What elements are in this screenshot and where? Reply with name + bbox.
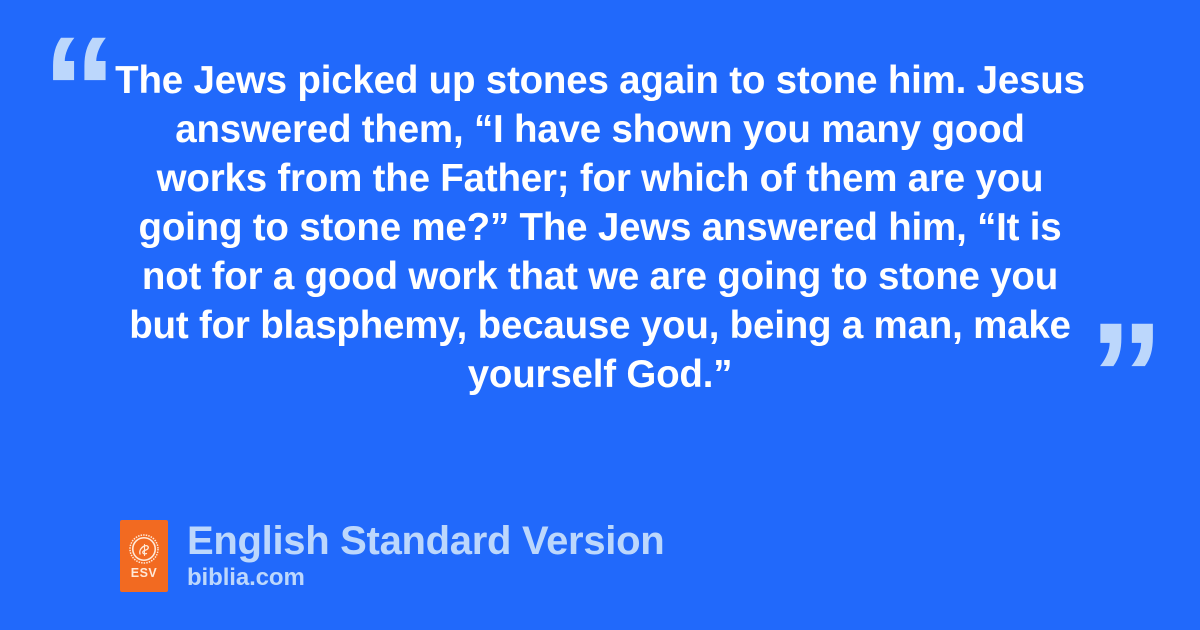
site-url-label[interactable]: biblia.com xyxy=(187,564,664,592)
closing-quote-icon: ” xyxy=(1089,300,1162,450)
quote-block: The Jews picked up stones again to stone… xyxy=(96,56,1104,399)
quote-card: “ The Jews picked up stones again to sto… xyxy=(0,0,1200,630)
footer-text-group: English Standard Version biblia.com xyxy=(187,519,664,592)
esv-logo-badge: ESV xyxy=(120,520,168,592)
quote-text: The Jews picked up stones again to stone… xyxy=(96,56,1104,399)
esv-seal-icon xyxy=(129,534,159,564)
bible-version-name: English Standard Version xyxy=(187,519,664,563)
footer: ESV English Standard Version biblia.com xyxy=(120,519,664,592)
esv-abbreviation-label: ESV xyxy=(131,567,158,580)
